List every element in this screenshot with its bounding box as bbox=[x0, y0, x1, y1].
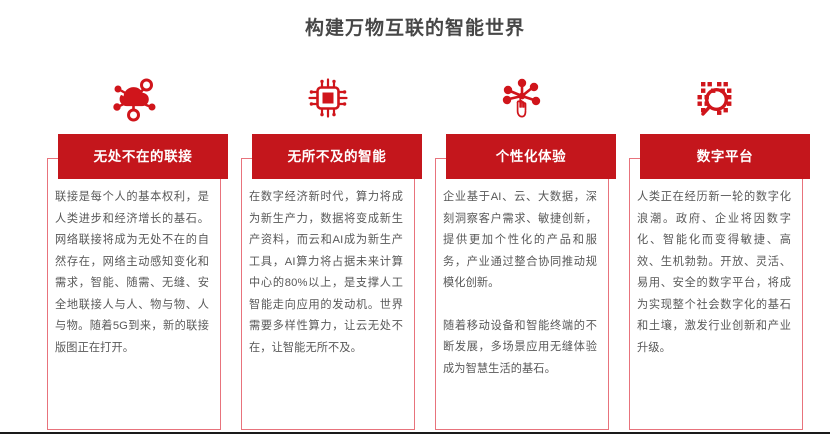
footer-divider bbox=[0, 432, 830, 434]
card-body: 在数字经济新时代，算力将成为新生产力，数据将变成新生产资料，而云和AI成为新生产… bbox=[249, 187, 403, 359]
card-title: 个性化体验 bbox=[496, 148, 567, 166]
feature-card: 无处不在的联接 联接是每个人的基本权利，是人类进步和经济增长的基石。网络联接将成… bbox=[41, 62, 227, 430]
card-header-banner: 无所不及的智能 bbox=[252, 134, 422, 179]
card-header-banner: 无处不在的联接 bbox=[58, 134, 228, 179]
touch-hand-network-icon bbox=[429, 62, 615, 134]
card-paragraph: 联接是每个人的基本权利，是人类进步和经济增长的基石。网络联接将成为无处不在的自然… bbox=[55, 187, 209, 359]
card-title: 数字平台 bbox=[697, 148, 753, 166]
feature-card: 个性化体验 企业基于AI、云、大数据，深刻洞察客户需求、敏捷创新，提供更加个性化… bbox=[429, 62, 615, 430]
page-title: 构建万物互联的智能世界 bbox=[0, 16, 830, 42]
cpu-chip-icon bbox=[235, 62, 421, 134]
card-header-banner: 数字平台 bbox=[640, 134, 810, 179]
card-paragraph: 在数字经济新时代，算力将成为新生产力，数据将变成新生产资料，而云和AI成为新生产… bbox=[249, 187, 403, 359]
feature-card: 无所不及的智能 在数字经济新时代，算力将成为新生产力，数据将变成新生产资料，而云… bbox=[235, 62, 421, 430]
card-paragraph: 企业基于AI、云、大数据，深刻洞察客户需求、敏捷创新，提供更加个性化的产品和服务… bbox=[443, 187, 597, 295]
card-body: 人类正在经历新一轮的数字化浪潮。政府、企业将因数字化、智能化而变得敏捷、高效、生… bbox=[637, 187, 791, 359]
card-header-banner: 个性化体验 bbox=[446, 134, 616, 179]
cloud-network-icon bbox=[41, 62, 227, 134]
qr-code-magnifier-icon bbox=[623, 62, 809, 134]
card-title: 无所不及的智能 bbox=[288, 148, 387, 166]
card-body: 联接是每个人的基本权利，是人类进步和经济增长的基石。网络联接将成为无处不在的自然… bbox=[55, 187, 209, 359]
card-paragraph: 随着移动设备和智能终端的不断发展，多场景应用无缝体验成为智慧生活的基石。 bbox=[443, 316, 597, 381]
card-title: 无处不在的联接 bbox=[94, 148, 193, 166]
card-paragraph: 人类正在经历新一轮的数字化浪潮。政府、企业将因数字化、智能化而变得敏捷、高效、生… bbox=[637, 187, 791, 359]
feature-card: 数字平台 人类正在经历新一轮的数字化浪潮。政府、企业将因数字化、智能化而变得敏捷… bbox=[623, 62, 809, 430]
card-body: 企业基于AI、云、大数据，深刻洞察客户需求、敏捷创新，提供更加个性化的产品和服务… bbox=[443, 187, 597, 380]
feature-card-row: 无处不在的联接 联接是每个人的基本权利，是人类进步和经济增长的基石。网络联接将成… bbox=[41, 62, 793, 430]
slide-root: 构建万物互联的智能世界 bbox=[0, 0, 830, 440]
